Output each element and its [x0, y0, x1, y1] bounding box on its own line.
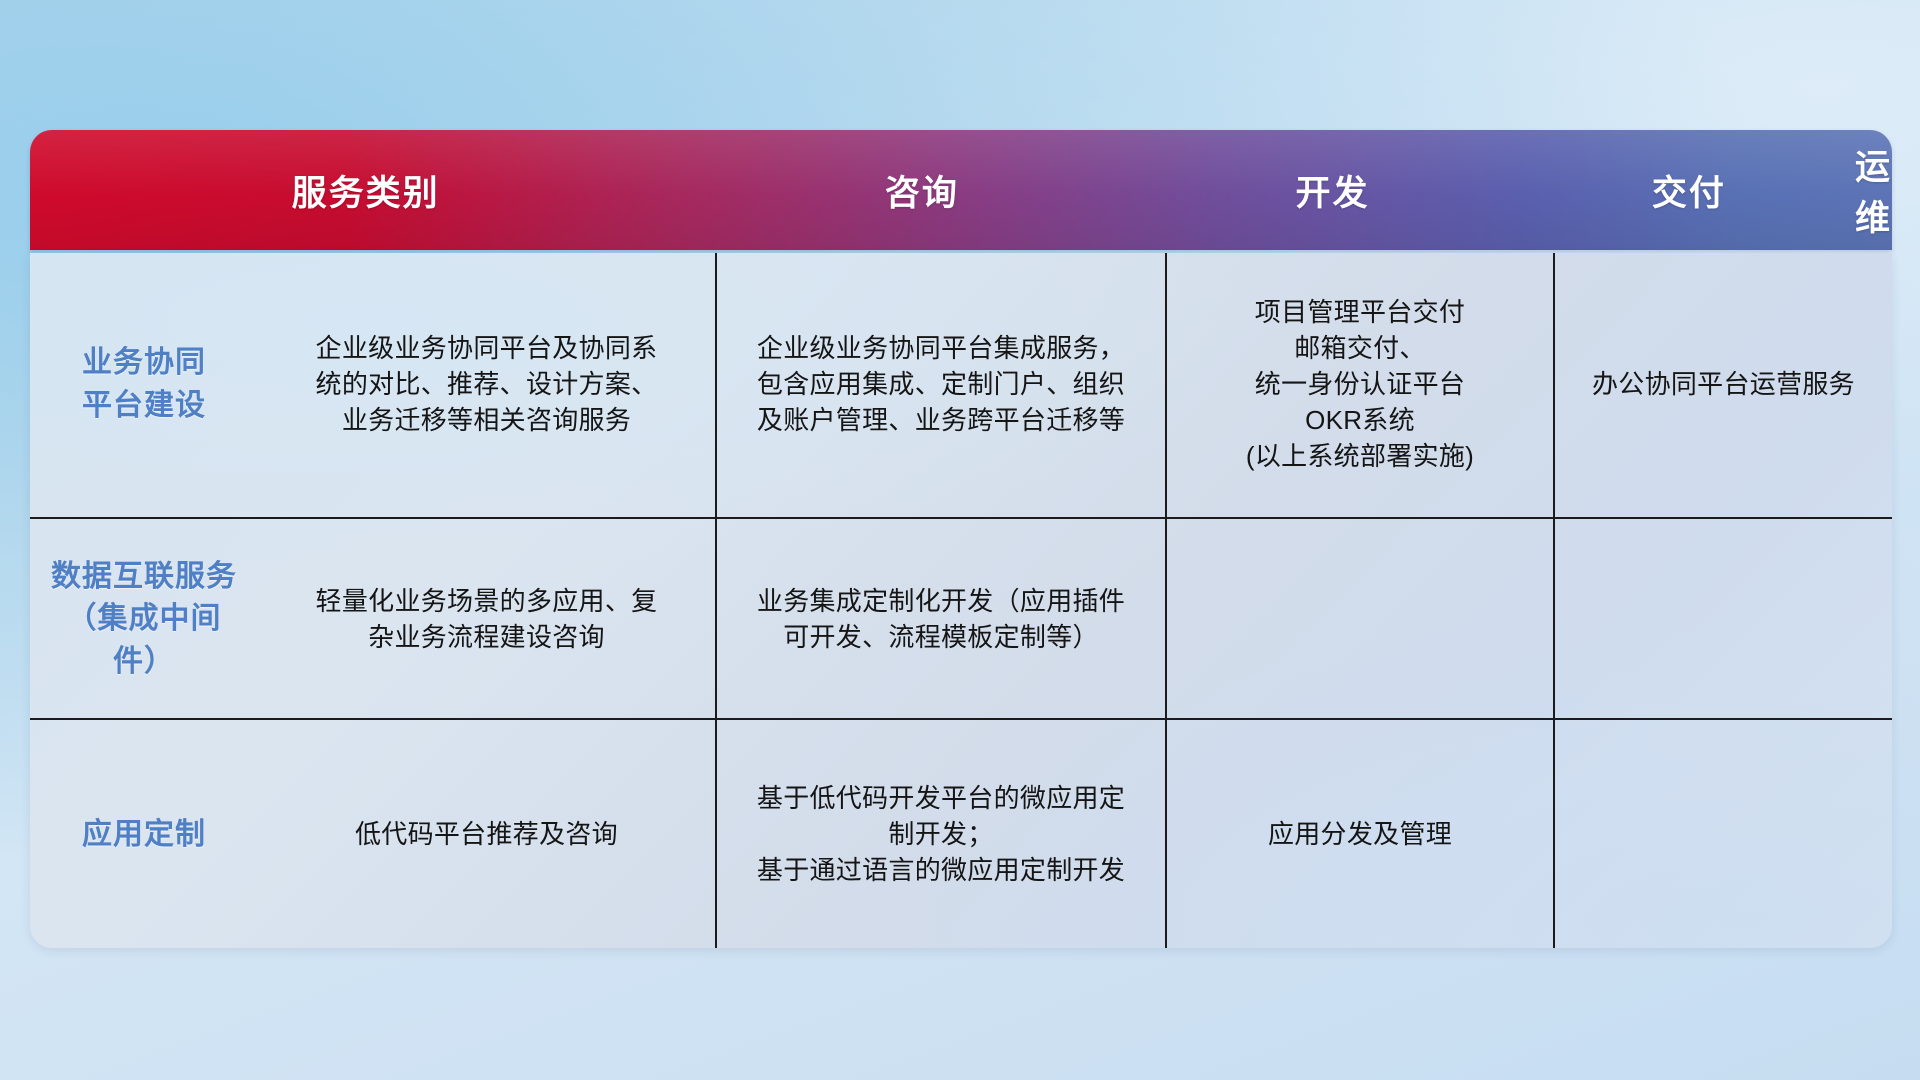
- table-row: 应用定制 低代码平台推荐及咨询 基于低代码开发平台的微应用定 制开发； 基于通过…: [30, 718, 1892, 948]
- cell-consulting: 轻量化业务场景的多应用、复 杂业务流程建设咨询: [258, 519, 715, 720]
- table-row: 数据互联服务 （集成中间件） 轻量化业务场景的多应用、复 杂业务流程建设咨询 业…: [30, 517, 1892, 720]
- category-line: 应用定制: [82, 814, 206, 857]
- category-line: 数据互联服务: [44, 556, 244, 599]
- cell-category: 应用定制: [30, 720, 258, 948]
- desc-line: 制开发；: [757, 817, 1125, 853]
- cell-consulting: 低代码平台推荐及咨询: [258, 720, 715, 948]
- cell-consulting: 企业级业务协同平台及协同系 统的对比、推荐、设计方案、 业务迁移等相关咨询服务: [258, 253, 715, 517]
- desc-line: 应用分发及管理: [1268, 817, 1452, 853]
- desc-line: 可开发、流程模板定制等）: [757, 620, 1125, 656]
- desc-line: 基于低代码开发平台的微应用定: [757, 781, 1125, 817]
- slide-canvas: 服务类别 咨询 开发 交付 运维 业务协同 平台建设 企业级业务协同平台及协同系…: [0, 0, 1920, 1080]
- column-header-development: 开发: [1142, 130, 1522, 250]
- cell-operations: [1553, 720, 1892, 948]
- column-header-category: 服务类别: [30, 130, 701, 250]
- desc-line: 轻量化业务场景的多应用、复: [316, 584, 658, 620]
- desc-line: 企业级业务协同平台及协同系: [316, 331, 658, 367]
- desc-line: 包含应用集成、定制门户、组织: [757, 367, 1125, 403]
- table-header-row: 服务类别 咨询 开发 交付 运维: [30, 130, 1892, 250]
- cell-development: 业务集成定制化开发（应用插件 可开发、流程模板定制等）: [715, 519, 1165, 720]
- column-header-consulting: 咨询: [701, 130, 1142, 250]
- desc-line: 业务迁移等相关咨询服务: [316, 403, 658, 439]
- column-header-operations: 运维: [1855, 130, 1892, 250]
- desc-line: 统的对比、推荐、设计方案、: [316, 367, 658, 403]
- column-header-delivery: 交付: [1523, 130, 1855, 250]
- cell-operations: 办公协同平台运营服务: [1553, 253, 1892, 517]
- cell-category: 数据互联服务 （集成中间件）: [30, 519, 258, 720]
- cell-delivery: 项目管理平台交付 邮箱交付、 统一身份认证平台 OKR系统 (以上系统部署实施): [1165, 253, 1553, 517]
- table-row: 业务协同 平台建设 企业级业务协同平台及协同系 统的对比、推荐、设计方案、 业务…: [30, 253, 1892, 517]
- desc-line: 统一身份认证平台: [1246, 367, 1474, 403]
- cell-delivery: [1165, 519, 1553, 720]
- cell-development: 基于低代码开发平台的微应用定 制开发； 基于通过语言的微应用定制开发: [715, 720, 1165, 948]
- desc-line: 邮箱交付、: [1246, 331, 1474, 367]
- desc-line: 低代码平台推荐及咨询: [355, 817, 618, 853]
- desc-line: 业务集成定制化开发（应用插件: [757, 584, 1125, 620]
- desc-line: 企业级业务协同平台集成服务，: [757, 331, 1125, 367]
- cell-development: 企业级业务协同平台集成服务， 包含应用集成、定制门户、组织 及账户管理、业务跨平…: [715, 253, 1165, 517]
- desc-line: OKR系统: [1246, 403, 1474, 439]
- desc-line: 办公协同平台运营服务: [1592, 367, 1855, 403]
- cell-delivery: 应用分发及管理: [1165, 720, 1553, 948]
- desc-line: 项目管理平台交付: [1246, 295, 1474, 331]
- desc-line: (以上系统部署实施): [1246, 439, 1474, 475]
- table-body: 业务协同 平台建设 企业级业务协同平台及协同系 统的对比、推荐、设计方案、 业务…: [30, 253, 1892, 948]
- category-line: （集成中间件）: [44, 598, 244, 683]
- desc-line: 杂业务流程建设咨询: [316, 620, 658, 656]
- cell-category: 业务协同 平台建设: [30, 253, 258, 517]
- category-line: 平台建设: [82, 385, 206, 428]
- category-line: 业务协同: [82, 342, 206, 385]
- desc-line: 基于通过语言的微应用定制开发: [757, 853, 1125, 889]
- desc-line: 及账户管理、业务跨平台迁移等: [757, 403, 1125, 439]
- services-matrix-table: 服务类别 咨询 开发 交付 运维 业务协同 平台建设 企业级业务协同平台及协同系…: [30, 130, 1892, 948]
- cell-operations: [1553, 519, 1892, 720]
